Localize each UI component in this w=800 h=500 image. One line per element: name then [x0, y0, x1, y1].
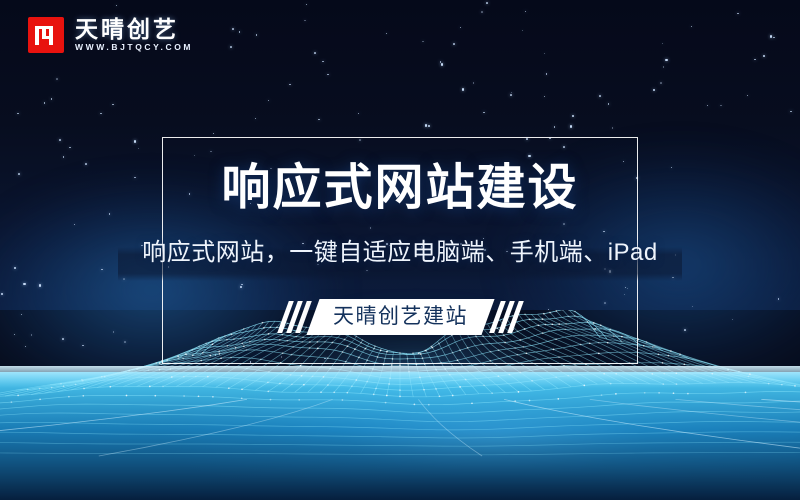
hero-copy: 响应式网站建设 响应式网站，一键自适应电脑端、手机端、iPad [0, 160, 800, 268]
hero-banner: 天晴创艺 WWW.BJTQCY.COM 响应式网站建设 响应式网站，一键自适应电… [0, 0, 800, 500]
page-title: 响应式网站建设 [0, 160, 800, 216]
cta-row: 天晴创艺建站 [0, 299, 800, 335]
site-logo[interactable]: 天晴创艺 WWW.BJTQCY.COM [28, 17, 193, 53]
logo-website-url: WWW.BJTQCY.COM [75, 43, 193, 52]
slash-decor-right-icon [495, 301, 518, 333]
logo-company-name: 天晴创艺 [75, 18, 193, 41]
tqcy-square-logo-icon [28, 17, 64, 53]
slash-decor-left-icon [283, 301, 306, 333]
cta-button[interactable]: 天晴创艺建站 [306, 299, 494, 335]
logo-text-block: 天晴创艺 WWW.BJTQCY.COM [75, 18, 193, 52]
hero-subtitle: 响应式网站，一键自适应电脑端、手机端、iPad [0, 238, 800, 268]
cta-button-label: 天晴创艺建站 [333, 304, 468, 330]
